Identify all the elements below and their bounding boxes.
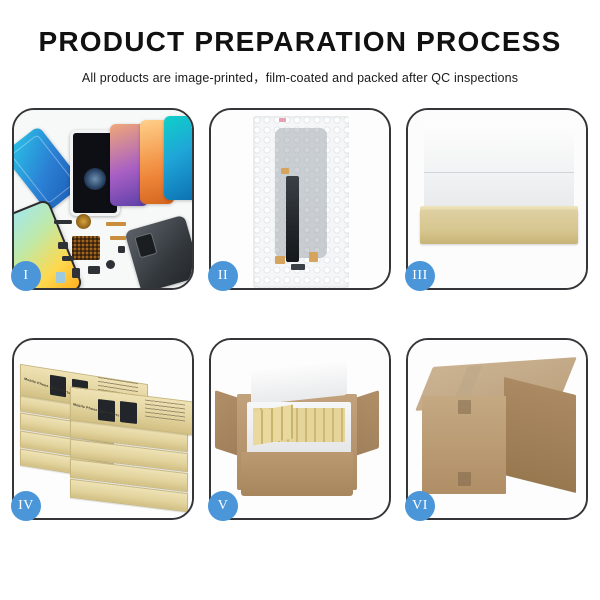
step-badge-iii: III [405, 261, 435, 291]
step-badge-i: I [11, 261, 41, 291]
box-label-window-4 [120, 401, 137, 424]
flex-cable-2 [110, 236, 126, 240]
chip-part-1 [54, 220, 72, 224]
flex-cable-1 [106, 222, 126, 226]
foam-lid [424, 124, 574, 216]
carton-tab-bottom [458, 472, 471, 486]
process-step-panel-i: I [12, 108, 194, 290]
step-iv-image: Mobile Phone Spare Parts Mobile Phone Sp… [14, 340, 192, 518]
chip-part-7 [118, 246, 125, 253]
connector-dark [291, 264, 305, 270]
step-iii-image [408, 110, 586, 288]
carton-front-wall [241, 452, 353, 496]
product-preparation-infographic: PRODUCT PREPARATION PROCESS All products… [0, 0, 600, 600]
process-step-panel-v: V [209, 338, 391, 520]
chip-part-5 [88, 266, 100, 274]
kraft-inner-box [420, 210, 578, 244]
gold-connector-2 [275, 256, 285, 264]
kraft-boxes-inside-angled [253, 404, 293, 445]
bubble-wrap-bag [253, 116, 349, 288]
logic-board-part [72, 236, 100, 260]
page-title: PRODUCT PREPARATION PROCESS [0, 28, 600, 56]
gold-connector-1 [281, 168, 289, 174]
screen-label-dot [279, 118, 286, 122]
carton-side-face [504, 377, 576, 493]
chip-part-2 [58, 242, 68, 249]
process-steps-grid: I II [12, 108, 588, 520]
gold-connector-3 [309, 252, 318, 262]
chip-part-3 [62, 256, 74, 261]
wrapped-screen [275, 128, 327, 258]
process-step-panel-iv: Mobile Phone Spare Parts Mobile Phone Sp… [12, 338, 194, 520]
carton-tab-top [458, 400, 471, 414]
step-badge-ii: II [208, 261, 238, 291]
step-badge-iv: IV [11, 491, 41, 521]
step-v-image [211, 340, 389, 518]
chip-part-4 [106, 260, 115, 269]
step-i-image [14, 110, 192, 288]
phone-chassis-dark [124, 215, 192, 288]
step-badge-vi: VI [405, 491, 435, 521]
phone-teal [164, 116, 192, 200]
page-subtitle: All products are image-printed，film-coat… [0, 67, 600, 86]
process-step-panel-ii: II [209, 108, 391, 290]
process-step-panel-vi: VI [406, 338, 588, 520]
header: PRODUCT PREPARATION PROCESS All products… [0, 0, 600, 86]
screen-flex-cable [286, 176, 299, 262]
chip-part-6 [72, 268, 80, 278]
step-badge-v: V [208, 491, 238, 521]
step-ii-image [211, 110, 389, 288]
speaker-coil-part [76, 214, 91, 229]
step-vi-image [408, 340, 586, 518]
flex-cable-3 [56, 272, 65, 283]
process-step-panel-iii: III [406, 108, 588, 290]
